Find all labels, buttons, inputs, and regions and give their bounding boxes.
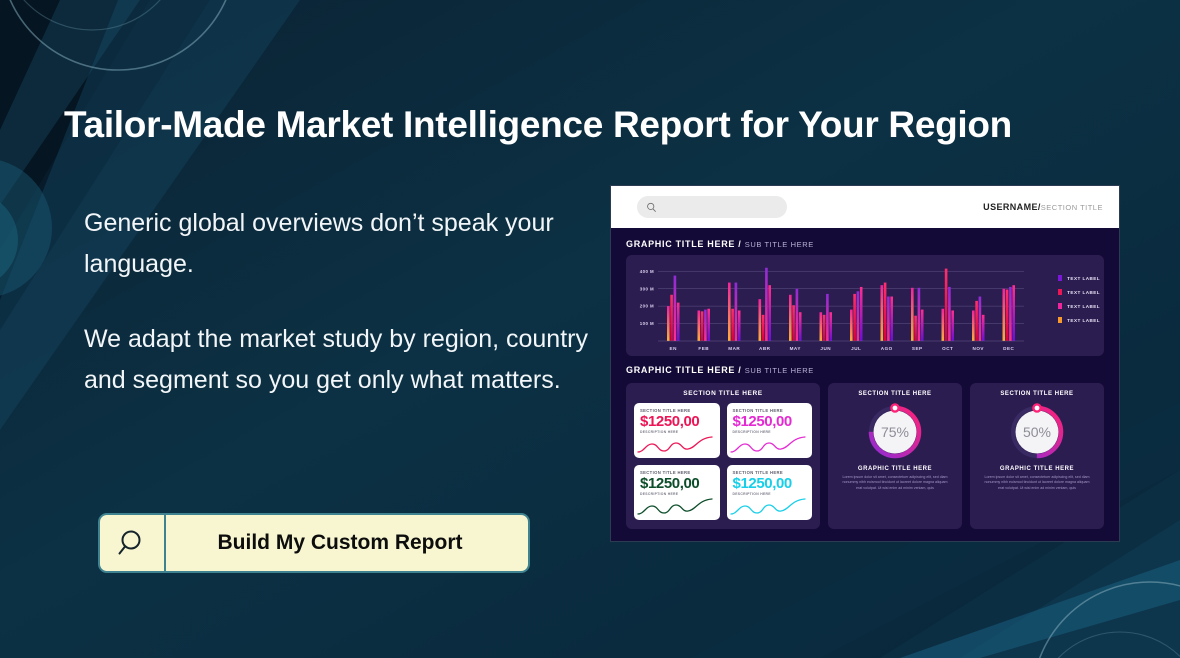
svg-text:MAR: MAR [728,346,740,351]
cards-section-title: GRAPHIC TITLE HERE / SUB TITLE HERE [626,365,1104,375]
donut-card-1: SECTION TITLE HERE 75% GRAPHIC TITLE HER… [828,383,962,529]
donut-percent-label: 50% [1023,424,1051,440]
username-label: USERNAME/ [983,202,1041,212]
legend-label: TEXT LABEL [1067,304,1100,309]
legend-item[interactable]: TEXT LABEL [1058,317,1100,323]
donut-2-graphic-title: GRAPHIC TITLE HERE [977,466,1097,472]
legend-item[interactable]: TEXT LABEL [1058,275,1100,281]
kpi-panel-label: SECTION TITLE HERE [634,390,812,397]
legend-label: TEXT LABEL [1067,276,1100,281]
svg-text:JUL: JUL [851,346,861,351]
svg-text:EN: EN [670,346,678,351]
svg-text:ABR: ABR [759,346,771,351]
donut-1-section-title: SECTION TITLE HERE [835,391,955,397]
donut-2-description: Lorem ipsum dolor sit amet, consectetuer… [977,475,1097,491]
svg-text:MAY: MAY [790,346,801,351]
kpi-value: $1250,00 [640,413,714,430]
search-icon [646,202,657,213]
search-icon [100,515,166,571]
kpi-sparkline [634,496,718,518]
svg-text:OCT: OCT [942,346,953,351]
svg-text:DEC: DEC [1003,346,1014,351]
donut-chart: 75% [864,401,926,463]
kpi-card[interactable]: SECTION TITLE HERE$1250,00DESCRIPTION HE… [727,403,813,458]
dashboard-topbar: USERNAME/SECTION TITLE [611,186,1119,228]
kpi-sparkline [634,434,718,456]
legend-label: TEXT LABEL [1067,290,1100,295]
svg-text:200 M: 200 M [640,304,654,309]
cta-label: Build My Custom Report [166,531,528,555]
donut-2-chart: 50% [977,401,1097,463]
cards-title-sub: SUB TITLE HERE [745,366,814,375]
chart-legend: TEXT LABELTEXT LABELTEXT LABELTEXT LABEL [1058,275,1100,331]
kpi-value: $1250,00 [733,413,807,430]
cards-row: SECTION TITLE HERE SECTION TITLE HERE$12… [626,383,1104,529]
paragraph-2: We adapt the market study by region, cou… [84,319,594,401]
donut-2-section-title: SECTION TITLE HERE [977,391,1097,397]
legend-swatch [1058,317,1062,323]
build-report-cta-button[interactable]: Build My Custom Report [98,513,530,573]
svg-text:JUN: JUN [820,346,831,351]
legend-swatch [1058,275,1062,281]
donut-1-chart: 75% [835,401,955,463]
paragraph-1: Generic global overviews don’t speak you… [84,203,594,285]
svg-text:NOV: NOV [973,346,985,351]
kpi-value: $1250,00 [640,475,714,492]
svg-text:AGO: AGO [881,346,893,351]
donut-percent-label: 75% [881,424,909,440]
legend-item[interactable]: TEXT LABEL [1058,289,1100,295]
chart-title-sub: SUB TITLE HERE [745,240,814,249]
search-input[interactable] [637,196,787,218]
kpi-sparkline [727,496,811,518]
body-copy: Generic global overviews don’t speak you… [84,203,594,401]
svg-text:FEB: FEB [698,346,709,351]
legend-swatch [1058,303,1062,309]
bar-chart: 100 M200 M300 M400 MENFEBMARABRMAYJUNJUL… [632,262,1030,354]
svg-text:SEP: SEP [912,346,923,351]
svg-text:400 M: 400 M [640,269,654,274]
donut-1-graphic-title: GRAPHIC TITLE HERE [835,466,955,472]
page-title: Tailor-Made Market Intelligence Report f… [64,104,1094,146]
user-breadcrumb[interactable]: USERNAME/SECTION TITLE [983,202,1103,212]
svg-text:300 M: 300 M [640,286,654,291]
kpi-sparkline [727,434,811,456]
dashboard-preview: USERNAME/SECTION TITLE GRAPHIC TITLE HER… [610,185,1120,542]
donut-chart: 50% [1006,401,1068,463]
bar-chart-panel: 100 M200 M300 M400 MENFEBMARABRMAYJUNJUL… [626,255,1104,356]
kpi-card[interactable]: SECTION TITLE HERE$1250,00DESCRIPTION HE… [634,403,720,458]
kpi-card[interactable]: SECTION TITLE HERE$1250,00DESCRIPTION HE… [727,465,813,520]
donut-card-2: SECTION TITLE HERE 50% GRAPHIC TITLE HER… [970,383,1104,529]
kpi-card[interactable]: SECTION TITLE HERE$1250,00DESCRIPTION HE… [634,465,720,520]
legend-label: TEXT LABEL [1067,318,1100,323]
svg-text:100 M: 100 M [640,321,654,326]
legend-item[interactable]: TEXT LABEL [1058,303,1100,309]
section-title-label: SECTION TITLE [1041,203,1103,212]
cards-title-main: GRAPHIC TITLE HERE / [626,365,742,375]
chart-section-title: GRAPHIC TITLE HERE / SUB TITLE HERE [626,239,1104,249]
kpi-grid: SECTION TITLE HERE$1250,00DESCRIPTION HE… [634,403,812,520]
kpi-value: $1250,00 [733,475,807,492]
kpi-panel: SECTION TITLE HERE SECTION TITLE HERE$12… [626,383,820,529]
donut-1-description: Lorem ipsum dolor sit amet, consectetuer… [835,475,955,491]
legend-swatch [1058,289,1062,295]
chart-title-main: GRAPHIC TITLE HERE / [626,239,742,249]
